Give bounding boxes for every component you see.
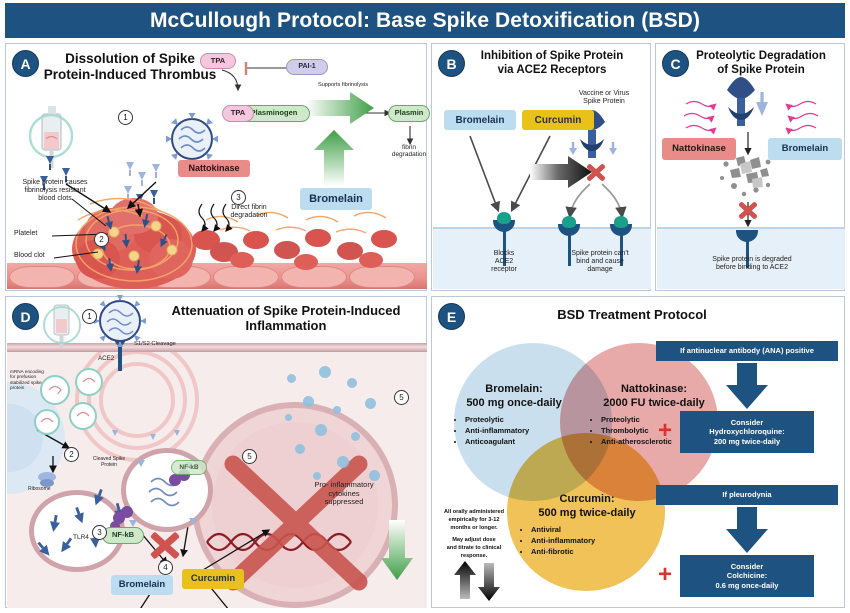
venn-dose-nattokinase: 2000 FU twice-daily	[603, 397, 705, 409]
chip-bromelain-d: Bromelain	[111, 575, 173, 595]
panel-a-title: Dissolution of Spike Protein-Induced Thr…	[30, 51, 230, 83]
chip-bromelain-c: Bromelain	[768, 138, 842, 160]
node-plasmin: Plasmin	[388, 105, 430, 122]
note-adjust-dose: May adjust dose and titrate to clinical …	[436, 537, 512, 560]
label-direct-fibrin-degradation: Direct fibrin degradation	[220, 204, 278, 220]
panel-d-inflammation-attenuation: D Attenuation of Spike Protein-Induced I…	[5, 296, 427, 608]
panel-a-badge: A	[12, 50, 39, 77]
panel-e-bsd-treatment-protocol: E BSD Treatment Protocol Bromelain: 500 …	[431, 296, 845, 608]
node-nfkb-cytoplasm: NF-kB	[102, 527, 144, 544]
plus-sign-2: +	[658, 563, 672, 587]
panel-d-step-4: 4	[158, 560, 173, 575]
panel-b-title: Inhibition of Spike Protein via ACE2 Rec…	[458, 50, 646, 77]
panel-c-badge: C	[662, 50, 689, 77]
label-ace2-d: ACE2	[98, 355, 128, 362]
panel-d-step-2: 2	[64, 447, 79, 462]
block-x-icon-d	[148, 529, 182, 563]
label-degraded-before-binding: Spike protein is degraded before binding…	[682, 256, 822, 272]
chip-nattokinase-a: Nattokinase	[178, 160, 250, 177]
plus-sign-1: +	[658, 419, 672, 443]
venn-effect: Anti-inflammatory	[531, 535, 660, 546]
node-nfkb-nucleus: NF-kB	[171, 460, 207, 475]
chip-curcumin-b: Curcumin	[522, 110, 594, 130]
panel-d-badge: D	[12, 303, 39, 330]
venn-effect: Proteolytic	[465, 414, 580, 425]
spike-protein-icon	[124, 186, 132, 200]
venn-effect: Anti-fibrotic	[531, 546, 660, 557]
label-cleaved-spike-protein: Cleaved Spike Protein	[84, 457, 134, 469]
spike-protein-icon	[152, 164, 160, 178]
venn-name-bromelain: Bromelain:	[485, 383, 542, 395]
spike-protein-icon	[138, 172, 146, 186]
panel-e-title: BSD Treatment Protocol	[532, 307, 732, 322]
chip-nattokinase-c: Nattokinase	[662, 138, 736, 160]
panel-d-step-5b: 5	[394, 390, 409, 405]
panel-a-step-1: 1	[118, 110, 133, 125]
venn-name-curcumin: Curcumin:	[560, 493, 615, 505]
label-blocks-ace2-receptor: Blocks ACE2 receptor	[476, 250, 532, 274]
spike-protein-icon	[46, 156, 54, 170]
venn-label-bromelain: Bromelain: 500 mg once-daily Proteolytic…	[448, 383, 580, 447]
block-x-icon-b	[585, 162, 607, 184]
cytokine-dot	[319, 366, 331, 378]
flow-action-hydroxychloroquine: Consider Hydroxychloroquine: 200 mg twic…	[680, 411, 814, 453]
cytokine-dot	[347, 378, 357, 388]
venn-name-nattokinase: Nattokinase:	[621, 383, 687, 395]
label-cytokines-suppressed: Pro- inflammatory cytokines suppressed	[306, 481, 382, 507]
venn-dose-bromelain: 500 mg once-daily	[466, 397, 561, 409]
label-cant-bind-cause-damage: Spike protein can't bind and cause damag…	[556, 250, 644, 274]
panel-d-step-1: 1	[82, 309, 97, 324]
label-fibrin-degradation: fibrin degradation	[388, 144, 430, 159]
label-supports-fibrinolysis: Supports fibrinolysis	[304, 82, 382, 88]
chip-bromelain-b: Bromelain	[444, 110, 516, 130]
chip-bromelain-a: Bromelain	[300, 188, 372, 210]
panel-b-ace2-inhibition: B Inhibition of Spike Protein via ACE2 R…	[431, 43, 651, 291]
cytokine-dot	[365, 398, 376, 409]
chip-curcumin-d: Curcumin	[182, 569, 244, 589]
label-ribosome: Ribosome	[28, 487, 62, 493]
venn-dose-curcumin: 500 mg twice-daily	[538, 507, 635, 519]
cytokine-dot	[315, 424, 327, 436]
spike-protein-icon	[150, 190, 158, 204]
block-x-icon-c	[737, 200, 759, 222]
label-platelet: Platelet	[14, 230, 58, 238]
node-tpa-bound: TPA	[222, 105, 254, 122]
panel-d-step-5a: 5	[242, 449, 257, 464]
panel-c-proteolytic-degradation: C Proteolytic Degradation of Spike Prote…	[655, 43, 845, 291]
node-pai1: PAI-1	[286, 59, 328, 75]
panel-d-step-3: 3	[92, 525, 107, 540]
venn-effect: Antiviral	[531, 524, 660, 535]
page-title: McCullough Protocol: Base Spike Detoxifi…	[150, 9, 700, 33]
flow-condition-pleurodynia: If pleurodynia	[656, 485, 838, 505]
cytokine-dot	[285, 414, 292, 421]
venn-label-curcumin: Curcumin: 500 mg twice-daily Antiviral A…	[514, 493, 660, 557]
panel-a-thrombus-dissolution: A Dissolution of Spike Protein-Induced T…	[5, 43, 427, 291]
venn-effect: Anticoagulant	[465, 436, 580, 447]
node-tpa: TPA	[200, 53, 236, 69]
flow-condition-ana: If antinuclear antibody (ANA) positive	[656, 341, 838, 361]
vessel-wall	[7, 263, 427, 289]
panel-c-title: Proteolytic Degradation of Spike Protein	[682, 50, 840, 77]
figure-root: McCullough Protocol: Base Spike Detoxifi…	[0, 0, 850, 613]
label-vaccine-or-virus-spike: Vaccine or Virus Spike Protein	[562, 90, 646, 106]
cytokine-dot	[337, 456, 349, 468]
cytokine-dot	[303, 396, 314, 407]
cell-membrane	[7, 343, 427, 352]
spike-protein-icon	[136, 194, 144, 208]
cytokine-dot	[313, 472, 321, 480]
cytokine-dot	[333, 406, 341, 414]
panel-d-title: Attenuation of Spike Protein-Induced Inf…	[146, 303, 426, 334]
figure-title-bar: McCullough Protocol: Base Spike Detoxifi…	[5, 3, 845, 38]
cytokine-dot	[287, 374, 296, 383]
label-spike-causes-clots: Spike protein causes fibrinolysis resist…	[12, 179, 98, 203]
cytokine-dot	[295, 444, 305, 454]
label-mrna-encoding: mRNA encoding for prefusion stabilized s…	[10, 369, 56, 391]
label-blood-clot: Blood clot	[14, 252, 64, 260]
panel-a-step-3: 3	[231, 190, 246, 205]
panel-a-step-2: 2	[94, 232, 109, 247]
cytokine-dot	[351, 432, 360, 441]
spike-protein-icon	[126, 162, 134, 176]
note-orally-administered: All orally administered empirically for …	[436, 509, 512, 532]
label-s1-s2-cleavage: S1/S2 Cleavage	[134, 341, 210, 348]
venn-effect: Anti-inflammatory	[465, 425, 580, 436]
panel-e-badge: E	[438, 303, 465, 330]
panel-b-badge: B	[438, 50, 465, 77]
flow-action-colchicine: Consider Colchicine: 0.6 mg once-daily	[680, 555, 814, 597]
